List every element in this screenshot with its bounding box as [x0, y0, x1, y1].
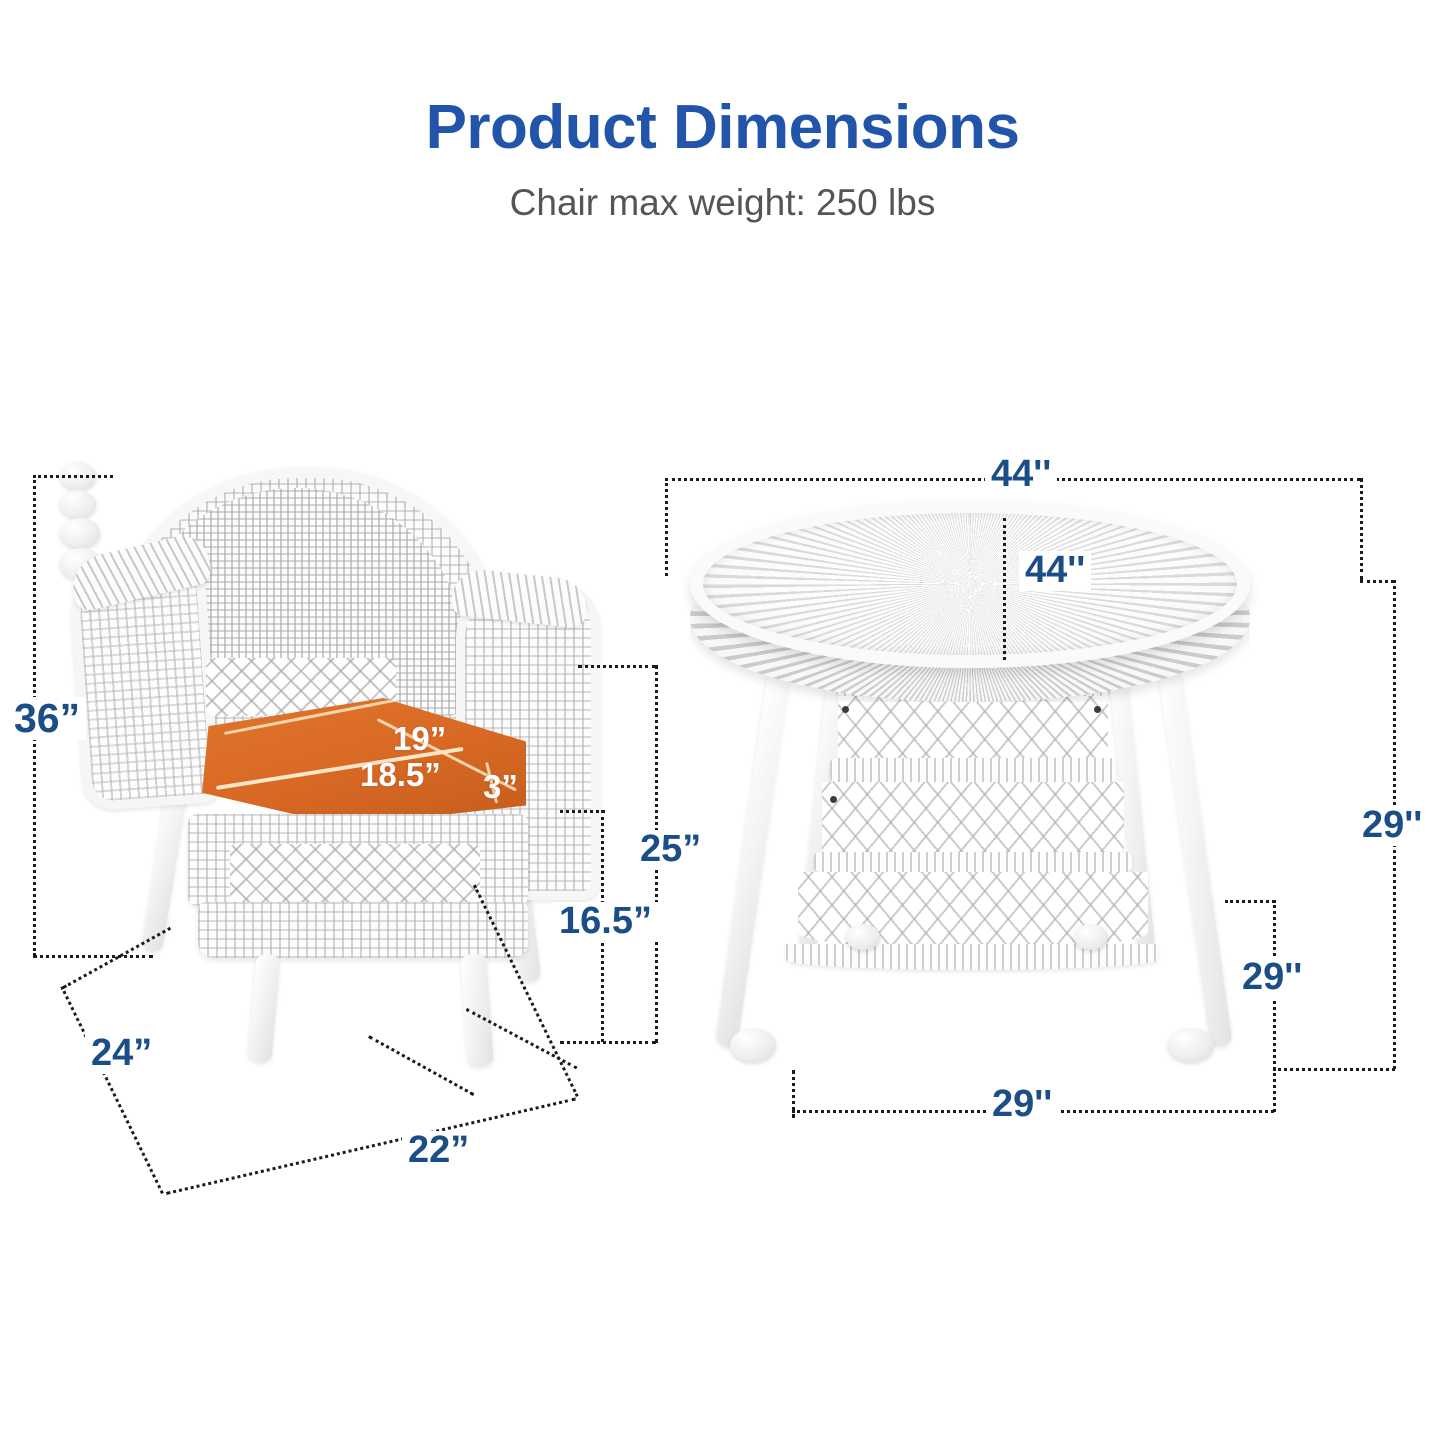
page-subtitle: Chair max weight: 250 lbs: [0, 182, 1445, 224]
table-height-guide-top: [1360, 580, 1394, 583]
chair-illustration: [60, 462, 600, 1082]
table-depth-label: 44'': [1019, 551, 1091, 591]
chair-back-height-guide-top: [578, 665, 656, 668]
chair-front-left-foot: [60, 518, 100, 548]
table-rivet-upper-left: [842, 706, 849, 713]
table-back-left-foot: [846, 924, 880, 950]
chair-footprint-edge-width-front: [166, 1098, 576, 1195]
table-front-right-foot: [1168, 1028, 1214, 1062]
chair-back-right-foot: [60, 490, 96, 518]
chair-lower-skirt: [198, 902, 528, 958]
chair-front-left-leg: [247, 953, 280, 1063]
table-base-width-guide-right: [1273, 1068, 1276, 1112]
table-depth-guide-vertical: [1003, 518, 1006, 660]
table-front-right-leg: [1158, 668, 1233, 1047]
table-shelf-lattice-upper: [838, 696, 1108, 762]
table-base-depth-guide-top: [1225, 900, 1275, 903]
chair-seat-height-guide-top: [560, 810, 605, 813]
table-base-width-label: 29'': [986, 1085, 1058, 1125]
table-width-guide-right: [1360, 478, 1363, 580]
table-width-label: 44'': [985, 455, 1057, 495]
table-rivet-mid-left: [830, 796, 837, 803]
chair-height-guide-top: [33, 475, 113, 478]
chair-depth-label: 24”: [85, 1034, 158, 1074]
table-base-depth-label: 29'': [1236, 958, 1308, 998]
cushion-width-label: 18.5”: [360, 758, 441, 791]
chair-apron-lattice: [230, 844, 480, 904]
table-width-guide-left: [665, 478, 668, 576]
chair-seat-height-label: 16.5”: [553, 902, 658, 942]
table-front-left-foot: [730, 1028, 776, 1062]
table-height-guide-bottom: [1273, 1068, 1395, 1071]
page-title: Product Dimensions: [0, 92, 1445, 163]
table-back-right-foot: [1074, 924, 1108, 950]
chair-width-label: 22”: [402, 1131, 475, 1171]
table-illustration: [690, 500, 1250, 1080]
table-rivet-upper-right: [1094, 706, 1101, 713]
table-top-rim: [690, 500, 1250, 668]
table-overall-height-label: 29'': [1356, 806, 1428, 846]
table-shelf-bottom-rail: [786, 944, 1158, 970]
chair-height-guide-bottom: [33, 955, 153, 958]
dimensions-diagram: Product Dimensions Chair max weight: 250…: [0, 0, 1445, 1445]
chair-overall-height-label: 36”: [8, 697, 86, 740]
table-front-left-leg: [715, 668, 790, 1047]
cushion-thickness-label: 3”: [483, 770, 518, 803]
cushion-depth-label: 19”: [393, 722, 446, 755]
table-shelf-lattice-mid: [822, 782, 1124, 854]
chair-back-height-guide-bottom: [560, 1041, 656, 1044]
table-shelf-mid-rail: [830, 758, 1116, 782]
table-shelf-lower-rail: [814, 852, 1132, 872]
